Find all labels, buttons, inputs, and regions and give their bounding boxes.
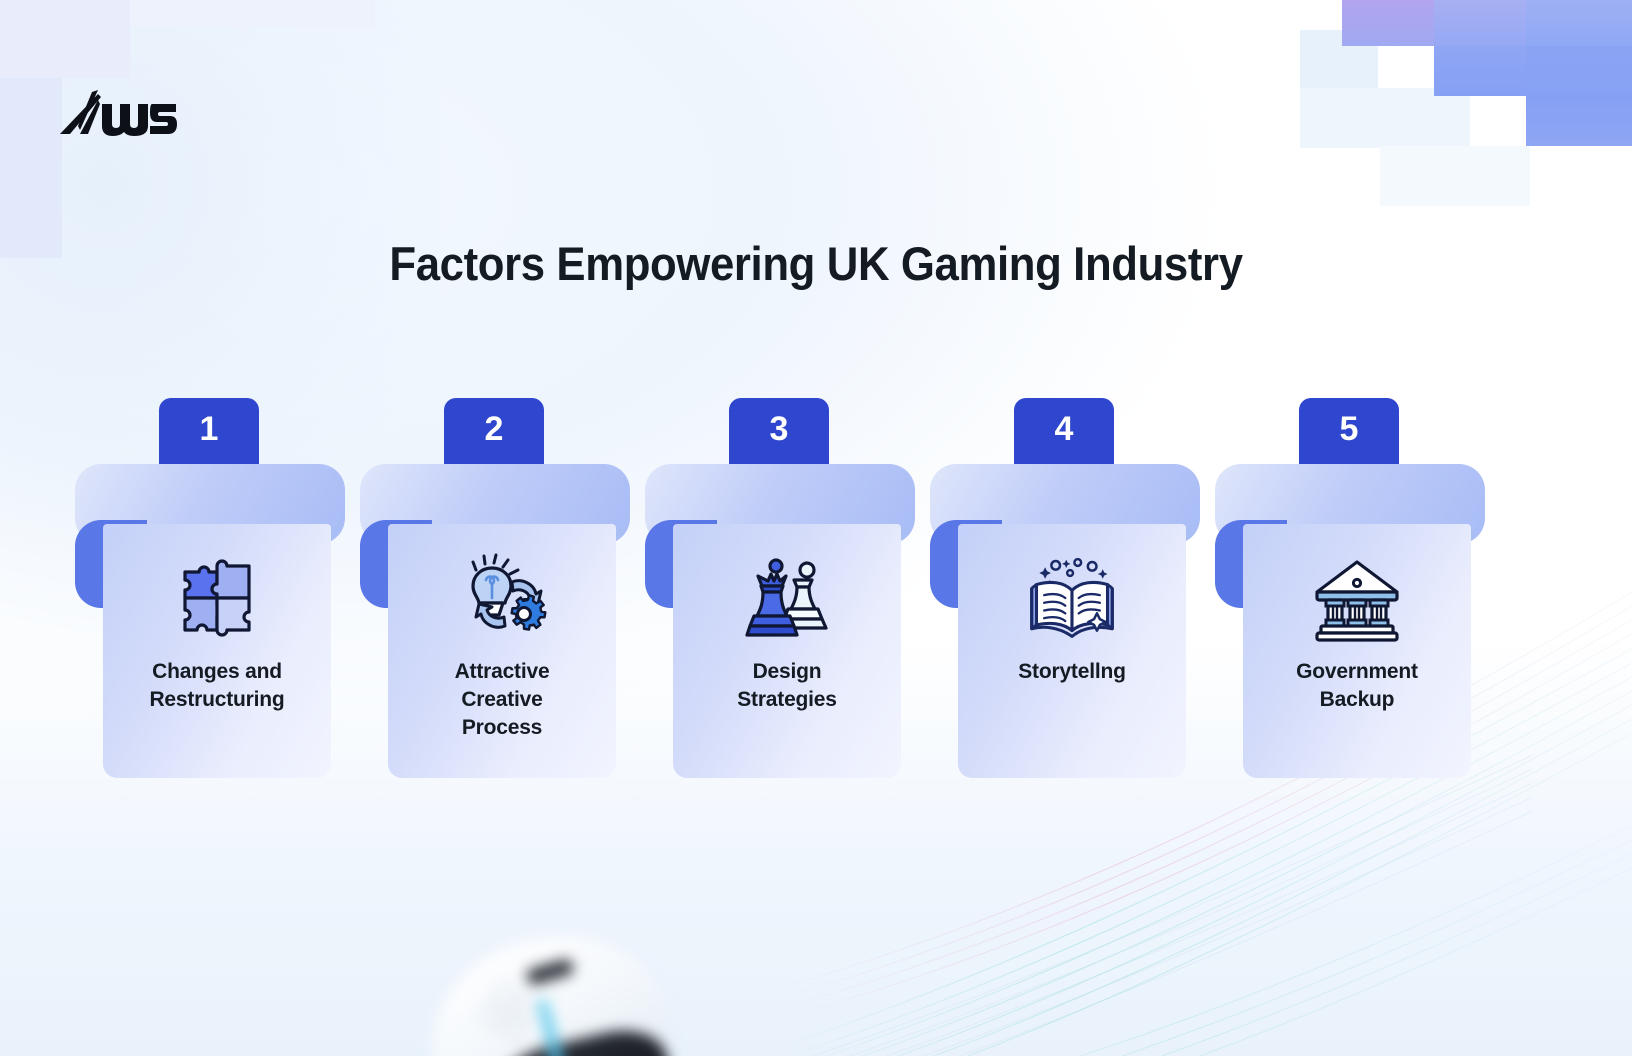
lightbulb-gear-cycle-icon [454,550,550,646]
card-3[interactable]: 3 [645,398,931,778]
card-number-badge-2: 2 [444,398,544,466]
stair-block-lightblue-3 [1380,146,1530,206]
card-number-badge-1: 1 [159,398,259,466]
card-2[interactable]: 2 [360,398,646,778]
card-label-3: Design Strategies [731,658,843,714]
card-body-2: Attractive Creative Process [388,524,616,778]
card-body-5: Government Backup [1243,524,1471,778]
card-number-badge-3: 3 [729,398,829,466]
stair-block-lightblue-2 [1300,88,1470,148]
cards-row: 1 Changes and Restructuring [0,398,1632,778]
card-label-2: Attractive Creative Process [449,658,556,742]
card-body-1: Changes and Restructuring [103,524,331,778]
chess-pieces-icon [739,550,835,646]
card-1[interactable]: 1 Changes and Restructuring [75,398,361,778]
card-4[interactable]: 4 [930,398,1216,778]
infographic-canvas: Factors Empowering UK Gaming Industry 1 [0,0,1632,1056]
card-label-5: Government Backup [1290,658,1424,714]
stair-block-gradient-2 [1434,0,1526,46]
card-body-3: Design Strategies [673,524,901,778]
game-controller-decor [398,912,698,1056]
iws-logo[interactable] [58,88,178,140]
card-body-4: Storytellng [958,524,1186,778]
open-book-sparkles-icon [1024,550,1120,646]
stair-block-gradient-5 [1526,46,1632,96]
stair-block-gradient-6 [1526,96,1632,146]
card-5[interactable]: 5 [1215,398,1501,778]
puzzle-pieces-icon [169,550,265,646]
bank-building-icon [1309,550,1405,646]
stair-block-pale-2 [0,78,62,258]
stair-block-pale-1 [0,0,130,78]
card-number-badge-4: 4 [1014,398,1114,466]
stair-block-gradient-1 [1342,0,1434,46]
card-label-4: Storytellng [1012,658,1131,686]
stair-block-gradient-3 [1526,0,1632,46]
card-label-1: Changes and Restructuring [143,658,290,714]
page-title: Factors Empowering UK Gaming Industry [57,236,1575,291]
card-number-badge-5: 5 [1299,398,1399,466]
stair-block-gradient-4 [1434,46,1526,96]
stair-block-pale-3 [130,0,375,27]
